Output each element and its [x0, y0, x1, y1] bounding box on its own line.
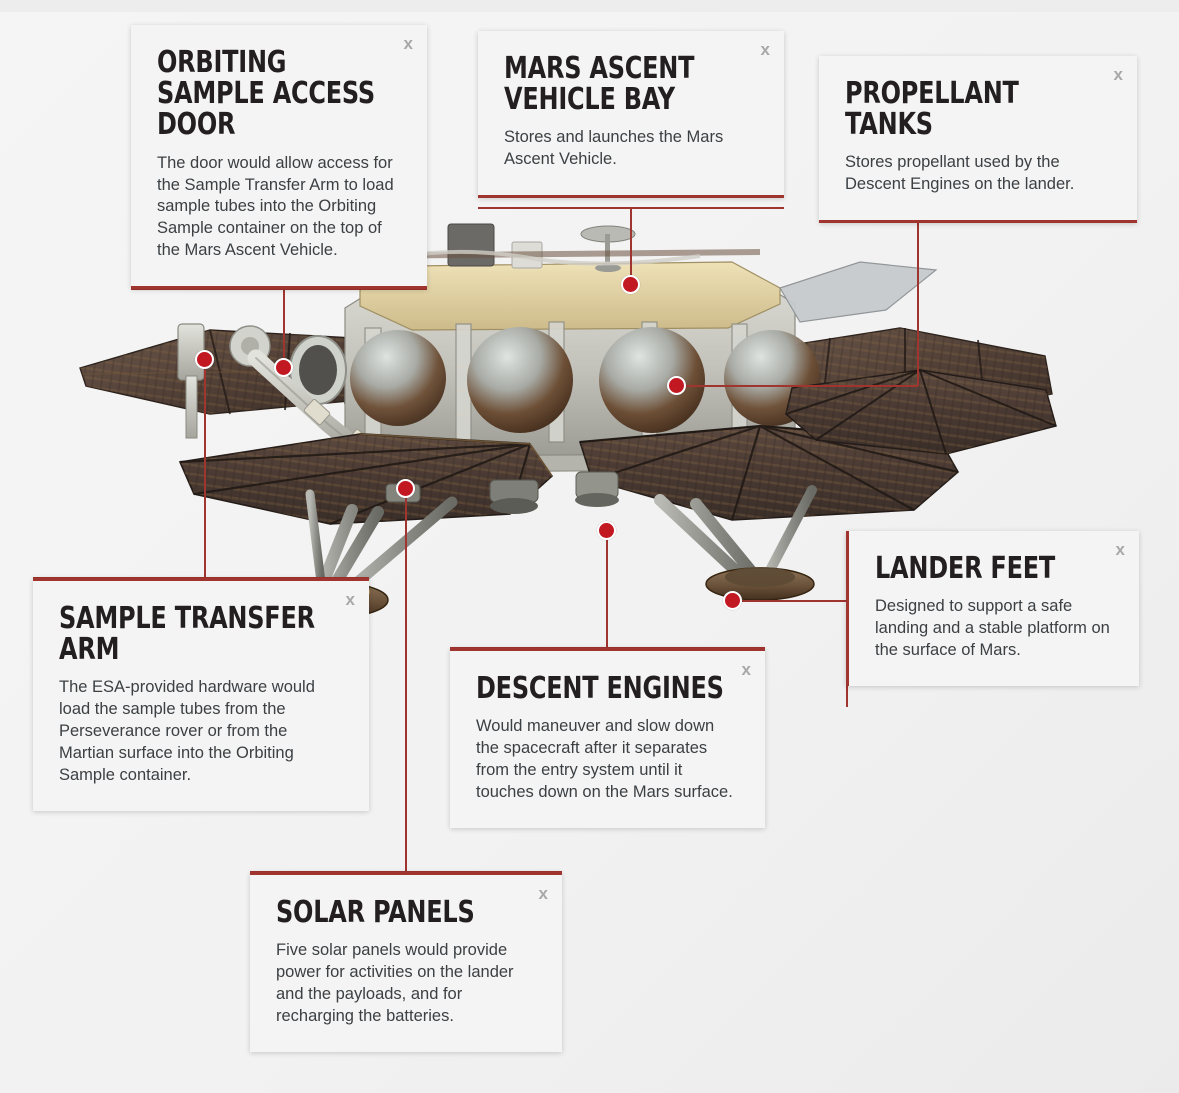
hotspot-lander-feet[interactable]: [723, 591, 742, 610]
callout-title: LANDER FEET: [875, 553, 1113, 584]
close-icon[interactable]: x: [1116, 541, 1125, 558]
callout-card-descent-engines[interactable]: x DESCENT ENGINES Would maneuver and slo…: [450, 648, 765, 828]
callout-body: The door would allow access for the Samp…: [157, 153, 401, 263]
page-top-strip: [0, 0, 1179, 12]
callout-body: Stores propellant used by the Descent En…: [845, 152, 1111, 196]
close-icon[interactable]: x: [404, 35, 413, 52]
hotspot-orbiting-sample-access-door[interactable]: [274, 358, 293, 377]
callout-body: The ESA-provided hardware would load the…: [59, 677, 343, 787]
callout-body: Would maneuver and slow down the spacecr…: [476, 716, 739, 804]
hotspot-descent-engines[interactable]: [597, 521, 616, 540]
callout-card-sample-transfer-arm[interactable]: x SAMPLE TRANSFER ARM The ESA-provided h…: [33, 578, 369, 811]
callout-body: Stores and launches the Mars Ascent Vehi…: [504, 127, 758, 171]
callout-title: MARS ASCENT VEHICLE BAY: [504, 53, 758, 115]
leader-feet-horizontal: [742, 600, 848, 602]
leader-descent-vertical: [606, 531, 608, 648]
close-icon[interactable]: x: [742, 661, 751, 678]
callout-title: SAMPLE TRANSFER ARM: [59, 603, 343, 665]
close-icon[interactable]: x: [761, 41, 770, 58]
callout-body: Five solar panels would provide power fo…: [276, 940, 536, 1028]
leader-ptank-vertical: [917, 206, 919, 386]
callout-title: SOLAR PANELS: [276, 897, 536, 928]
callout-title: ORBITING SAMPLE ACCESS DOOR: [157, 47, 401, 141]
callout-card-mars-ascent-vehicle-bay[interactable]: x MARS ASCENT VEHICLE BAY Stores and lau…: [478, 31, 784, 198]
leader-osad-vertical: [283, 288, 285, 360]
interactive-diagram-stage: x ORBITING SAMPLE ACCESS DOOR The door w…: [0, 0, 1179, 1093]
callout-title: PROPELLANT TANKS: [845, 78, 1111, 140]
hotspot-sample-transfer-arm[interactable]: [195, 350, 214, 369]
callout-card-lander-feet[interactable]: x LANDER FEET Designed to support a safe…: [846, 531, 1139, 686]
callout-card-propellant-tanks[interactable]: x PROPELLANT TANKS Stores propellant use…: [819, 56, 1137, 223]
close-icon[interactable]: x: [346, 591, 355, 608]
callout-body: Designed to support a safe landing and a…: [875, 596, 1113, 662]
leader-sta-vertical: [204, 362, 206, 578]
callout-card-orbiting-sample-access-door[interactable]: x ORBITING SAMPLE ACCESS DOOR The door w…: [131, 25, 427, 289]
hotspot-propellant-tanks[interactable]: [667, 376, 686, 395]
close-icon[interactable]: x: [1114, 66, 1123, 83]
hotspot-solar-panels[interactable]: [396, 479, 415, 498]
close-icon[interactable]: x: [539, 885, 548, 902]
callout-card-solar-panels[interactable]: x SOLAR PANELS Five solar panels would p…: [250, 872, 562, 1052]
hotspot-mars-ascent-vehicle-bay[interactable]: [621, 275, 640, 294]
leader-solar-vertical: [405, 490, 407, 872]
leader-ptank-horizontal-2: [676, 385, 918, 387]
callout-title: DESCENT ENGINES: [476, 673, 739, 704]
leader-mavb-vertical: [630, 207, 632, 285]
